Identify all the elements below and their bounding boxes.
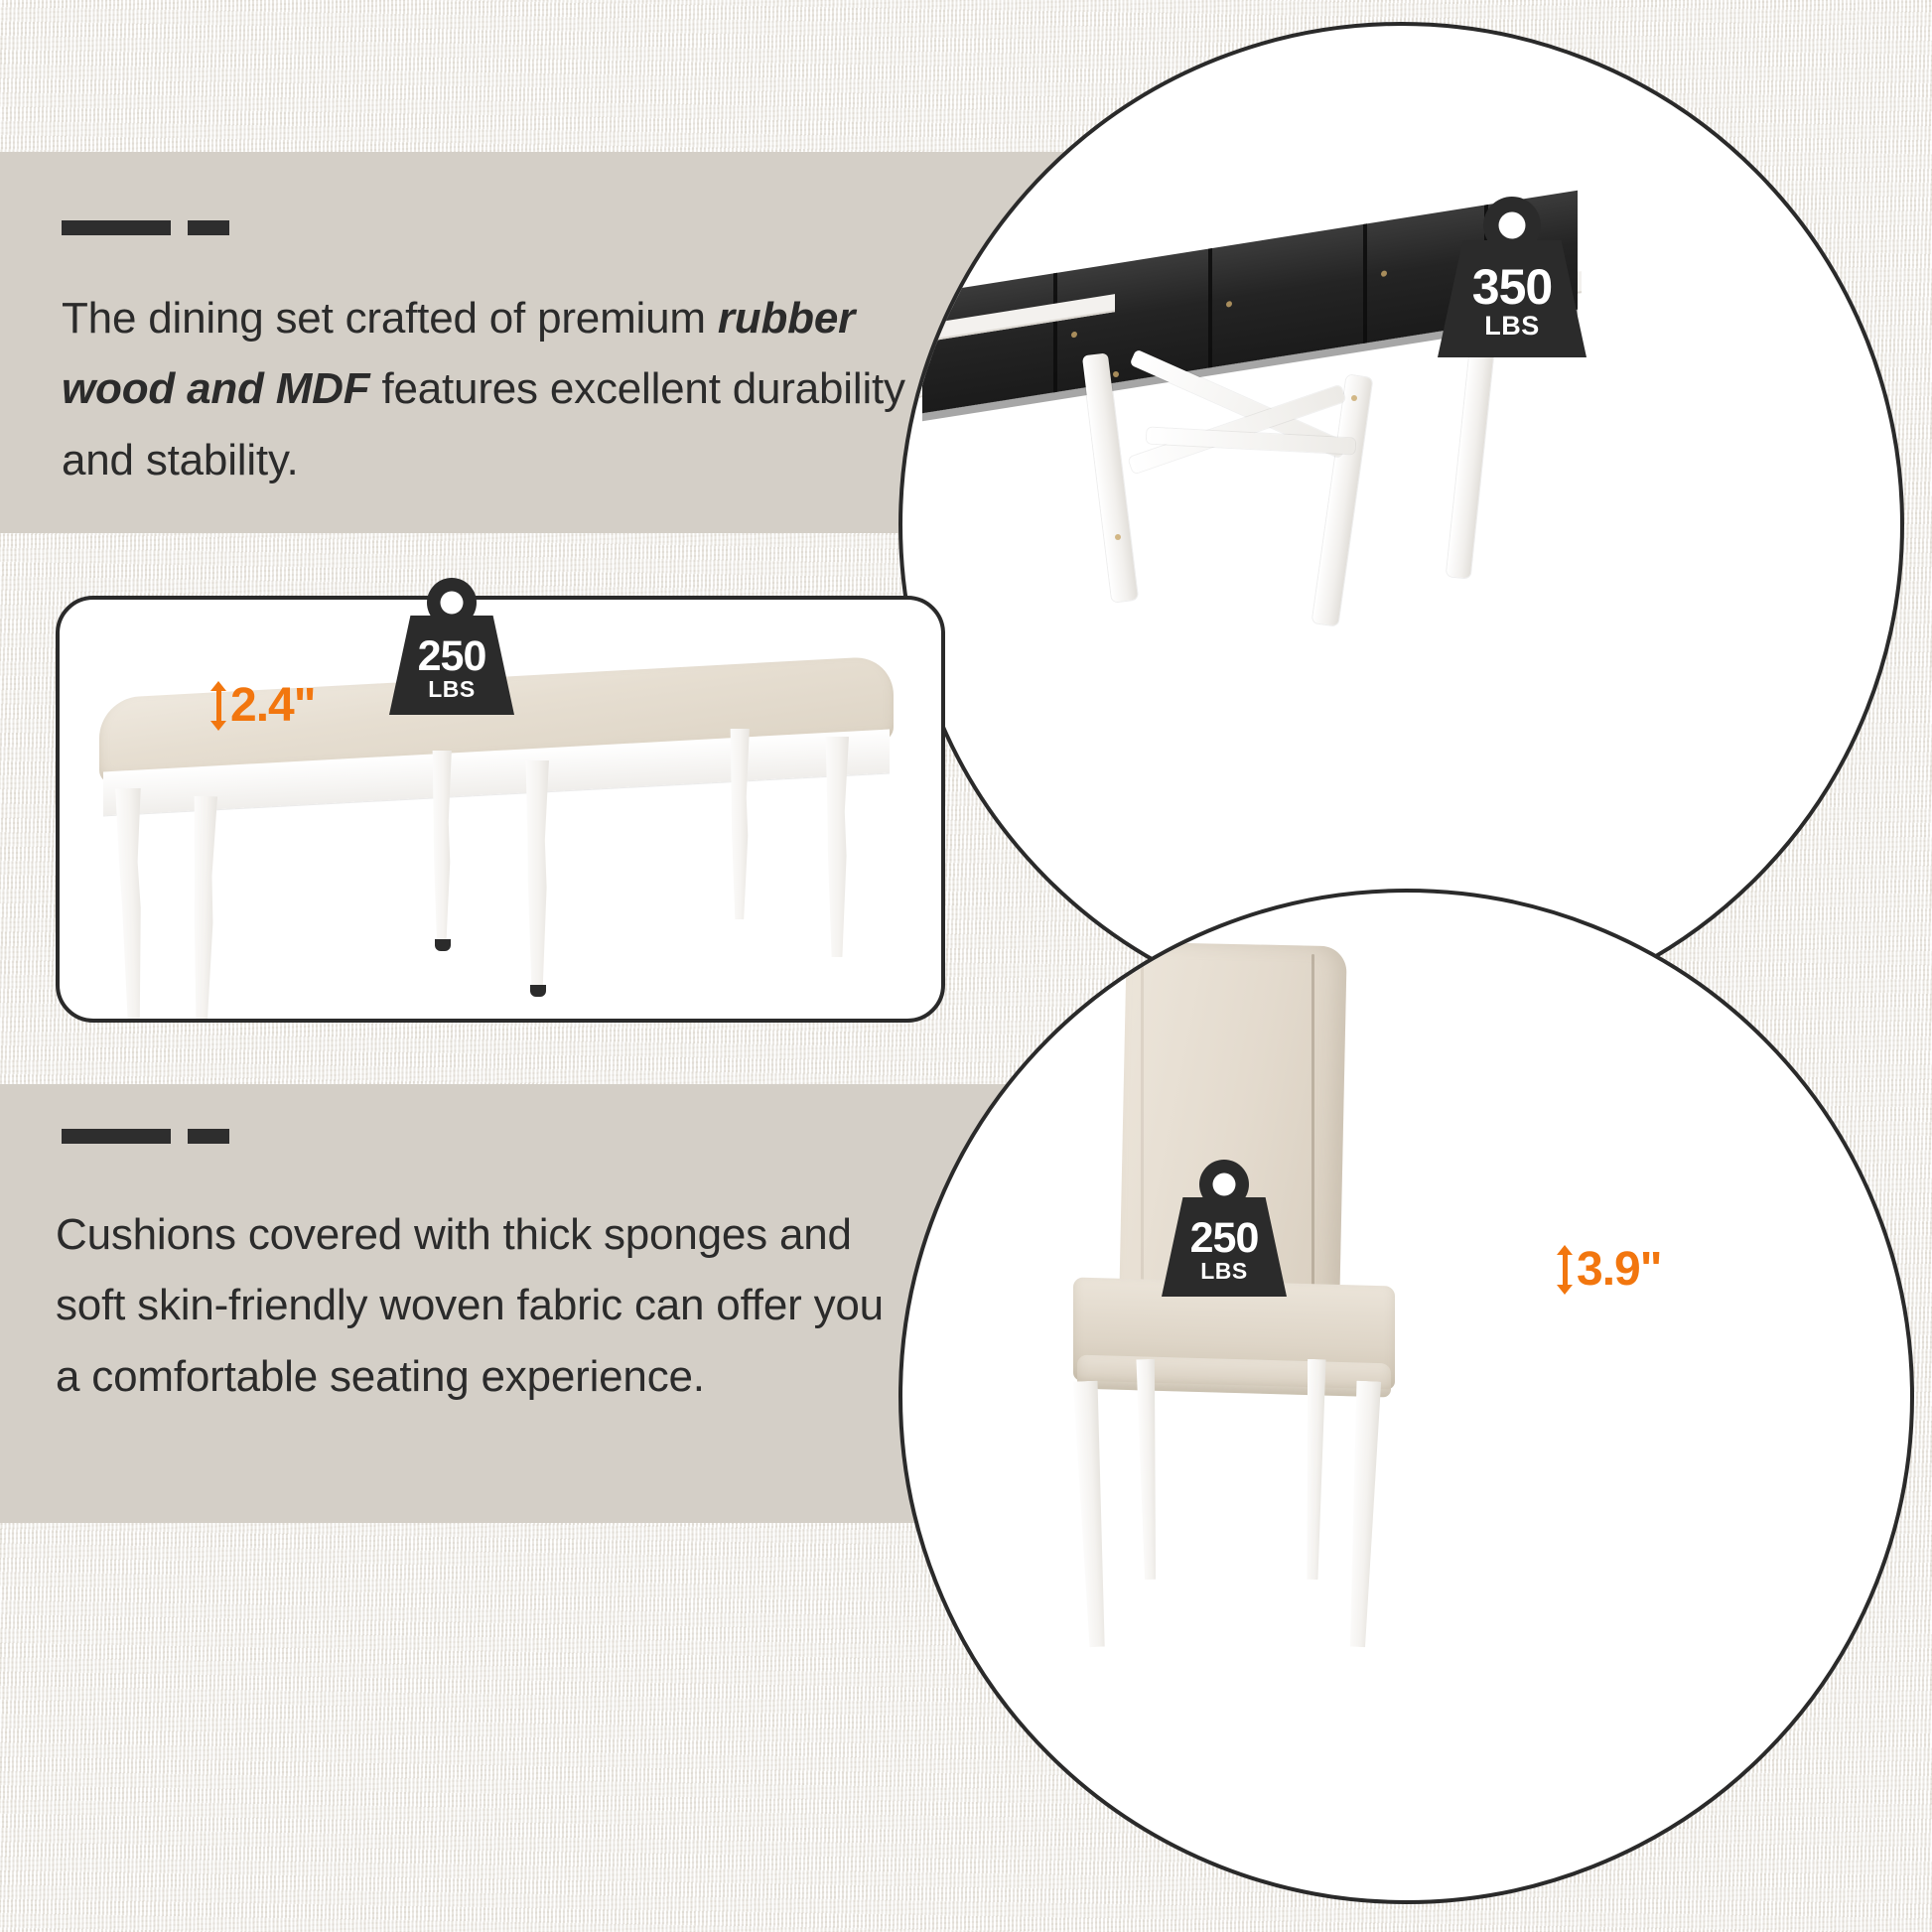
chair-leg-front-right bbox=[1343, 1381, 1383, 1648]
weight-body-icon: 350 LBS bbox=[1438, 240, 1587, 357]
copy-line-1-strong: rubber bbox=[718, 294, 855, 343]
weight-value: 250 bbox=[1190, 1218, 1259, 1259]
weight-unit: LBS bbox=[428, 677, 476, 702]
weight-unit: LBS bbox=[1200, 1259, 1248, 1284]
cushion-description: Cushions covered with thick sponges and … bbox=[56, 1199, 884, 1412]
bench-leg-rear-mid bbox=[522, 760, 552, 995]
weight-value: 350 bbox=[1472, 264, 1552, 312]
table-leg-front-left bbox=[1082, 352, 1138, 602]
copy-line-1-pre: The dining set crafted of premium bbox=[62, 294, 718, 343]
table-screw bbox=[1071, 332, 1077, 339]
copy-line-2-strong: wood and MDF bbox=[62, 364, 369, 413]
double-arrow-vertical-icon bbox=[1557, 1245, 1573, 1295]
table-illustration bbox=[902, 26, 1900, 1024]
chair-leg-front-left bbox=[1071, 1381, 1111, 1648]
dash-long-icon bbox=[62, 1129, 171, 1144]
dash-short-icon bbox=[188, 220, 229, 235]
weight-body-icon: 250 LBS bbox=[1162, 1197, 1287, 1297]
chair-photo-frame bbox=[898, 889, 1914, 1904]
slat-seam bbox=[1208, 248, 1212, 368]
bench-leg-front-left bbox=[112, 788, 150, 1020]
weight-badge-bench: 250 LBS bbox=[389, 578, 514, 715]
bench-dimension-label: 2.4" bbox=[230, 682, 315, 730]
copy-line-2-post: features excellent durability bbox=[369, 364, 904, 413]
table-screw bbox=[1351, 395, 1357, 401]
chair-backrest-seam bbox=[1141, 962, 1144, 1290]
table-screw bbox=[1113, 371, 1119, 377]
bench-foot-cap bbox=[435, 939, 451, 951]
dash-short-icon bbox=[188, 1129, 229, 1144]
double-arrow-vertical-icon bbox=[210, 681, 226, 731]
copy-line-3: and stability. bbox=[62, 436, 299, 484]
table-photo-frame bbox=[898, 22, 1904, 1028]
dash-divider-bottom bbox=[62, 1129, 229, 1144]
bench-cushion-thickness: 2.4" bbox=[210, 681, 315, 731]
table-screw bbox=[1226, 301, 1232, 308]
copy-b-line-2: soft skin-friendly woven fabric can offe… bbox=[56, 1281, 884, 1329]
copy-b-line-1: Cushions covered with thick sponges and bbox=[56, 1210, 852, 1259]
dash-divider-top bbox=[62, 220, 229, 235]
table-leg-front-right bbox=[1312, 374, 1373, 625]
weight-value: 250 bbox=[418, 636, 486, 677]
weight-body-icon: 250 LBS bbox=[389, 616, 514, 715]
slat-seam bbox=[1363, 223, 1367, 344]
table-screw bbox=[1381, 270, 1387, 277]
chair-backrest-seam bbox=[1311, 954, 1314, 1296]
weight-badge-chair: 250 LBS bbox=[1162, 1160, 1287, 1297]
chair-dimension-label: 3.9" bbox=[1577, 1246, 1661, 1294]
bench-leg-front-mid bbox=[187, 796, 220, 1023]
bench-foot-cap bbox=[530, 985, 546, 997]
weight-badge-table: 350 LBS bbox=[1438, 197, 1587, 357]
dash-long-icon bbox=[62, 220, 171, 235]
table-screw bbox=[1115, 534, 1121, 540]
chair-illustration bbox=[902, 893, 1910, 1900]
chair-leg-rear-left bbox=[1135, 1359, 1162, 1580]
chair-cushion-thickness: 3.9" bbox=[1557, 1245, 1661, 1295]
materials-description: The dining set crafted of premium rubber… bbox=[62, 283, 905, 495]
table-leg-back-right bbox=[1447, 343, 1495, 578]
weight-unit: LBS bbox=[1484, 312, 1540, 342]
bench-foot-cap bbox=[199, 1021, 214, 1023]
copy-b-line-3: a comfortable seating experience. bbox=[56, 1352, 705, 1401]
slat-seam bbox=[1053, 273, 1057, 393]
